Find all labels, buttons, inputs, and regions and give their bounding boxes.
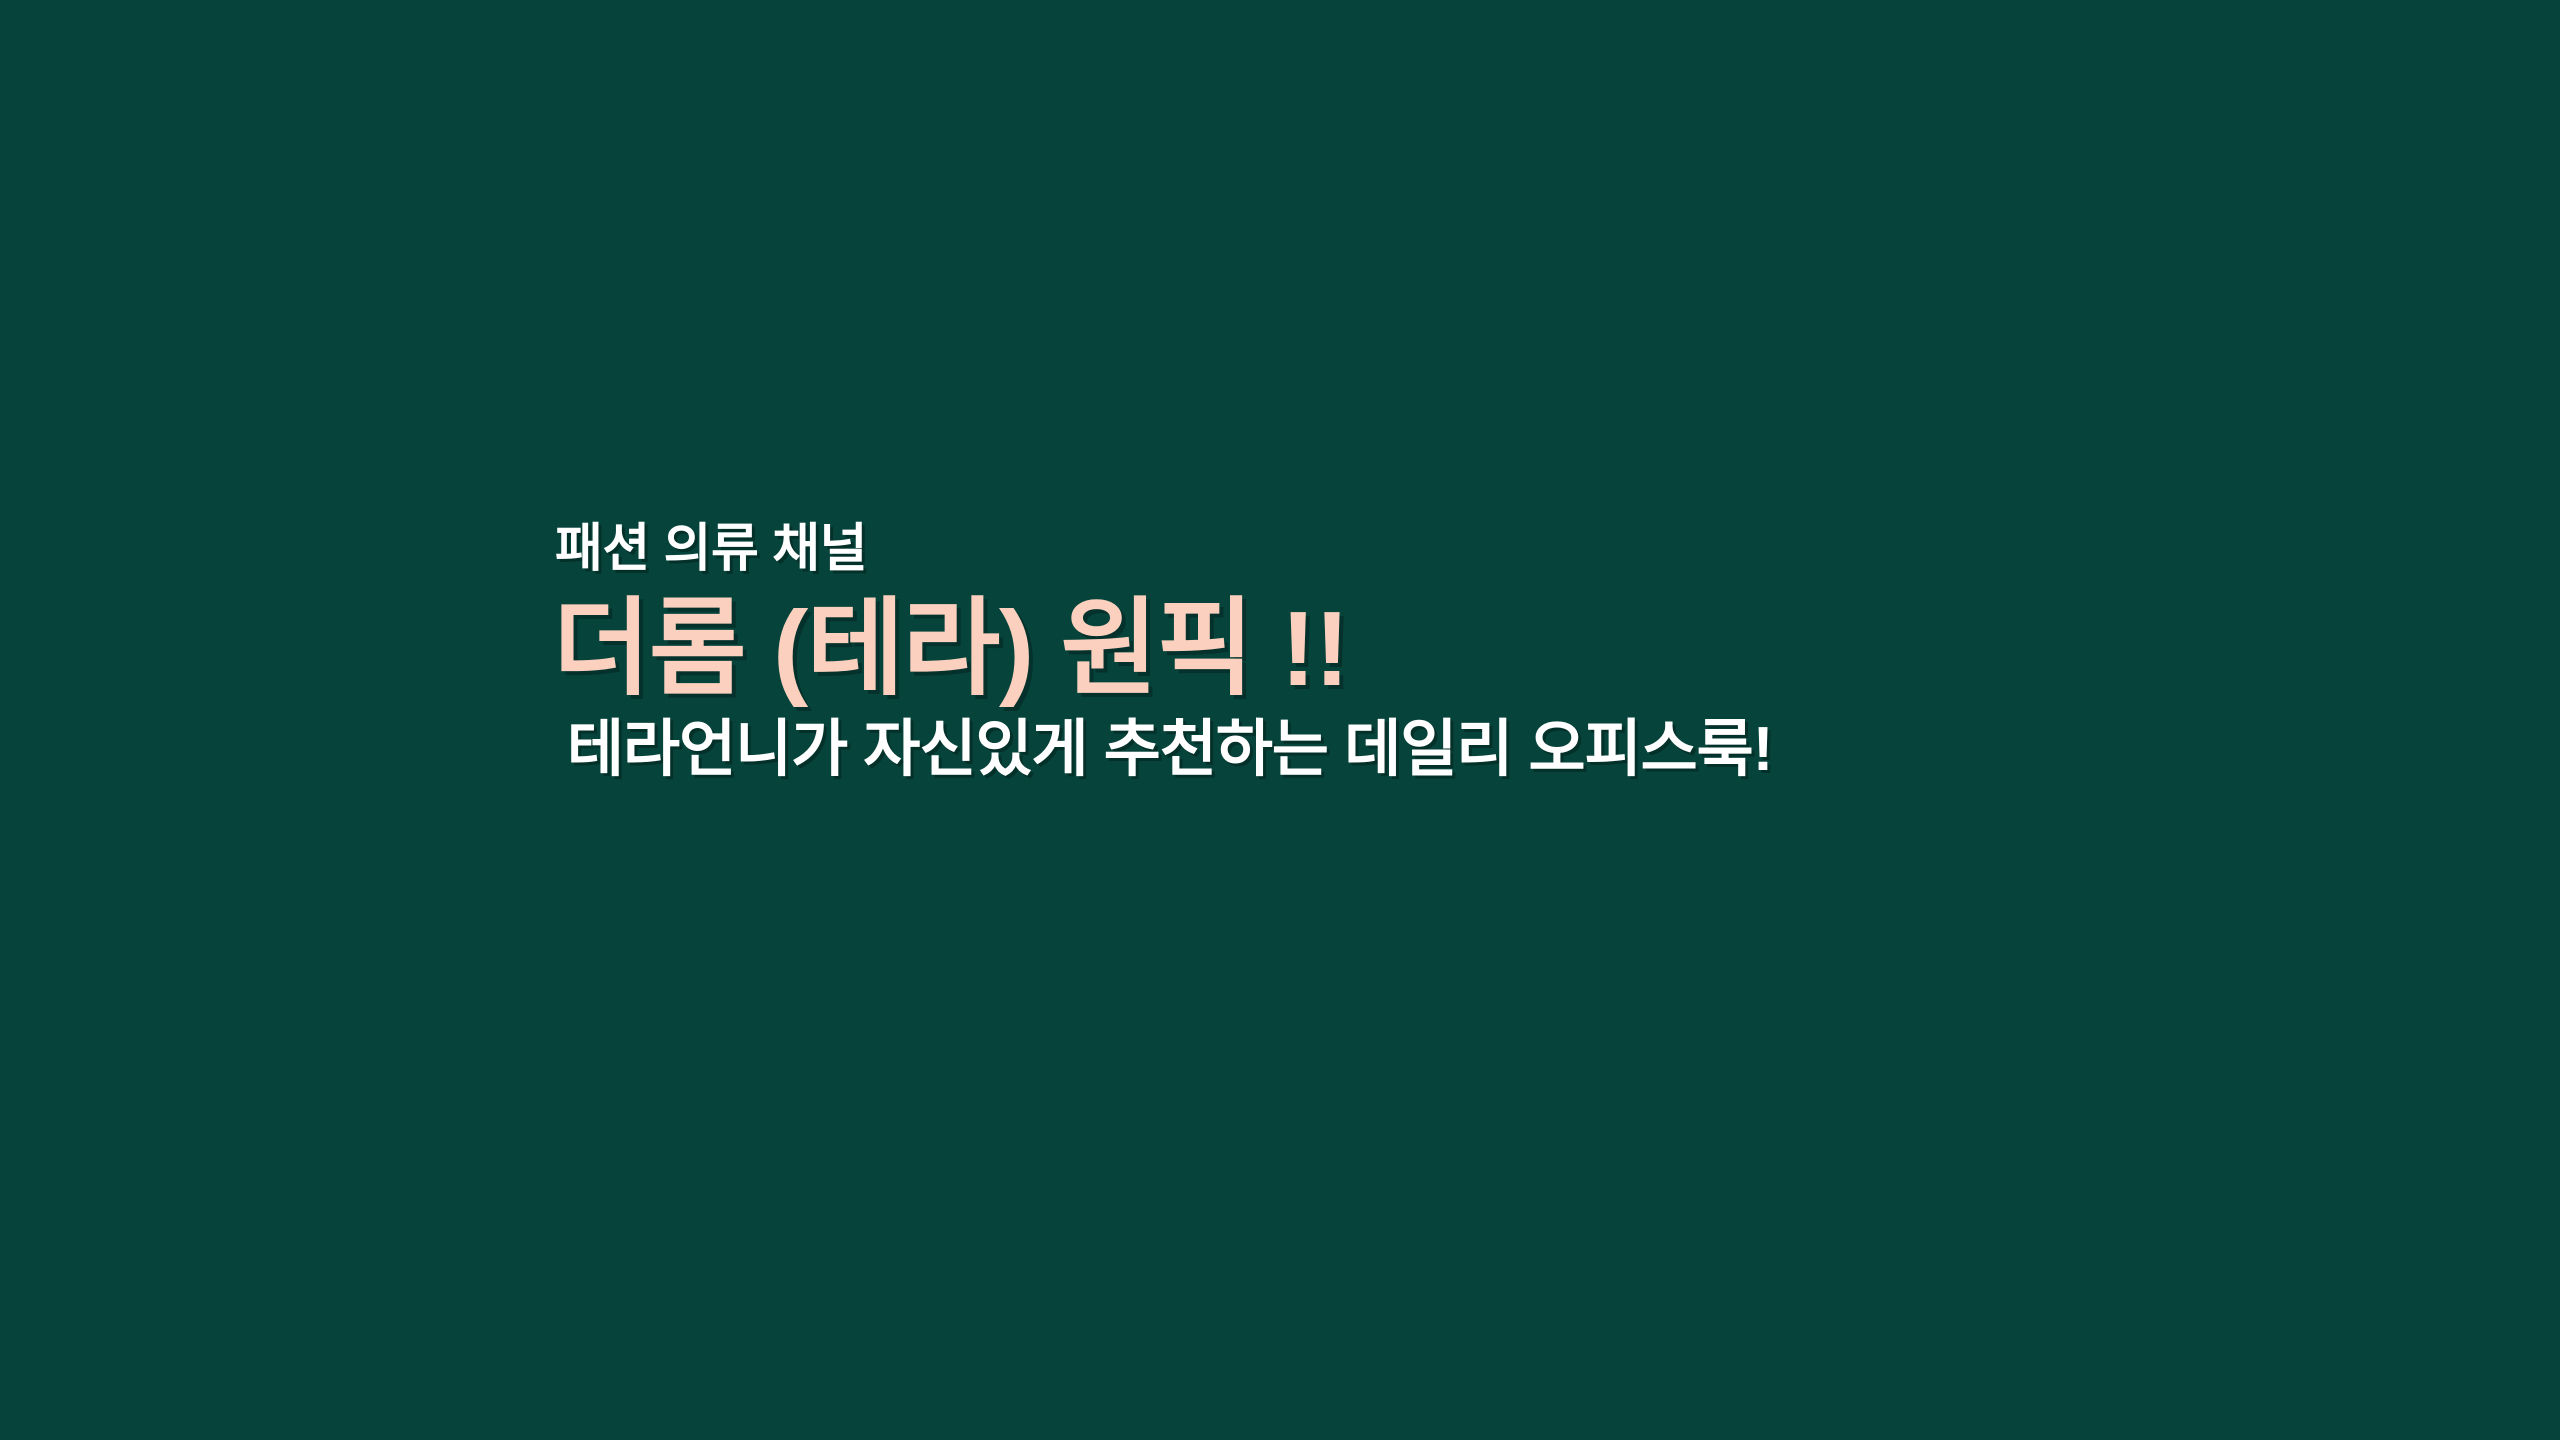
subtitle-tagline: 테라언니가 자신있게 추천하는 데일리 오피스룩!	[567, 715, 1772, 784]
headline-title: 더롬 (테라) 원픽 !!	[553, 592, 1348, 706]
channel-eyebrow-label: 패션 의류 채널	[555, 520, 867, 578]
title-slide: 패션 의류 채널 더롬 (테라) 원픽 !! 테라언니가 자신있게 추천하는 데…	[0, 0, 2560, 1440]
title-text-block: 패션 의류 채널 더롬 (테라) 원픽 !! 테라언니가 자신있게 추천하는 데…	[553, 520, 1772, 784]
